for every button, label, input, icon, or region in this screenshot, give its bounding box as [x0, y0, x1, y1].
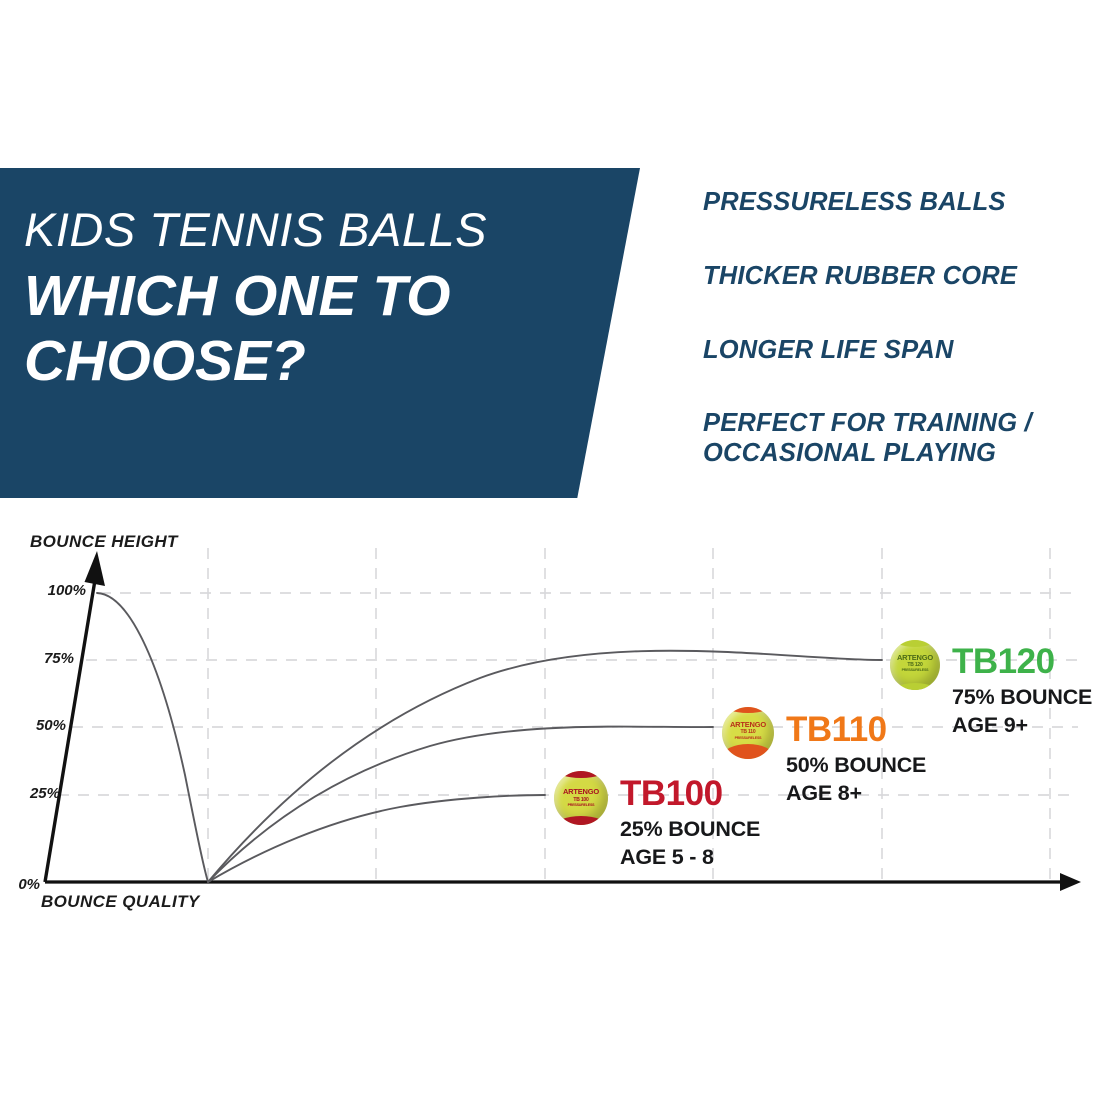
- title-kicker: KIDS TENNIS BALLS: [24, 206, 640, 254]
- tb100-ball-model: TB 100: [554, 798, 608, 803]
- feature-item-rubber-core: THICKER RUBBER CORE: [703, 262, 1093, 292]
- feature-item-life-span: LONGER LIFE SPAN: [703, 336, 1093, 366]
- tb110-ball-brand: ARTENGO: [722, 721, 774, 729]
- tb110-name: TB110: [786, 712, 926, 747]
- tb120-ball-brand: ARTENGO: [890, 654, 940, 662]
- chart-plot-area: [0, 520, 1100, 940]
- tb100-ball-brand: ARTENGO: [554, 788, 608, 796]
- tb100-age: AGE 5 - 8: [620, 844, 760, 872]
- tb110-ball-cap-bottom: [722, 744, 774, 759]
- tb120-name: TB120: [952, 644, 1092, 679]
- tb110-label: TB110 50% BOUNCE AGE 8+: [786, 712, 926, 807]
- tb110-bounce: 50% BOUNCE: [786, 752, 926, 780]
- tb100-ball: ARTENGO TB 100 PRESSURELESS: [554, 771, 608, 825]
- tb100-label: TB100 25% BOUNCE AGE 5 - 8: [620, 776, 760, 871]
- tb120-age: AGE 9+: [952, 712, 1092, 740]
- title-main-line-1: WHICH ONE TO: [24, 264, 640, 329]
- tb120-ball-sub: PRESSURELESS: [890, 669, 940, 673]
- tb100-ball-sub: PRESSURELESS: [554, 804, 608, 808]
- tb100-name: TB100: [620, 776, 760, 811]
- feature-item-pressureless: PRESSURELESS BALLS: [703, 188, 1093, 218]
- tb110-ball-model: TB 110: [722, 730, 774, 735]
- feature-list: PRESSURELESS BALLS THICKER RUBBER CORE L…: [703, 188, 1093, 469]
- tb100-bounce: 25% BOUNCE: [620, 816, 760, 844]
- infographic-root: KIDS TENNIS BALLS WHICH ONE TO CHOOSE? P…: [0, 0, 1100, 1100]
- curve-drop: [97, 593, 208, 882]
- tb110-ball-sub: PRESSURELESS: [722, 737, 774, 741]
- tb120-label: TB120 75% BOUNCE AGE 9+: [952, 644, 1092, 739]
- tb120-ball-model: TB 120: [890, 663, 940, 668]
- feature-item-training: PERFECT FOR TRAINING / OCCASIONAL PLAYIN…: [703, 409, 1093, 469]
- x-axis: [45, 873, 1081, 891]
- tb110-age: AGE 8+: [786, 780, 926, 808]
- title-main-line-2: CHOOSE?: [24, 329, 640, 394]
- bounce-chart: BOUNCE HEIGHT BOUNCE QUALITY 0% 25% 50% …: [0, 520, 1100, 940]
- tb120-ball: ARTENGO TB 120 PRESSURELESS: [890, 640, 940, 690]
- title-block: KIDS TENNIS BALLS WHICH ONE TO CHOOSE?: [0, 168, 640, 498]
- curve-tb120: [208, 651, 882, 882]
- tb110-ball: ARTENGO TB 110 PRESSURELESS: [722, 707, 774, 759]
- y-axis: [45, 551, 105, 882]
- tb120-bounce: 75% BOUNCE: [952, 684, 1092, 712]
